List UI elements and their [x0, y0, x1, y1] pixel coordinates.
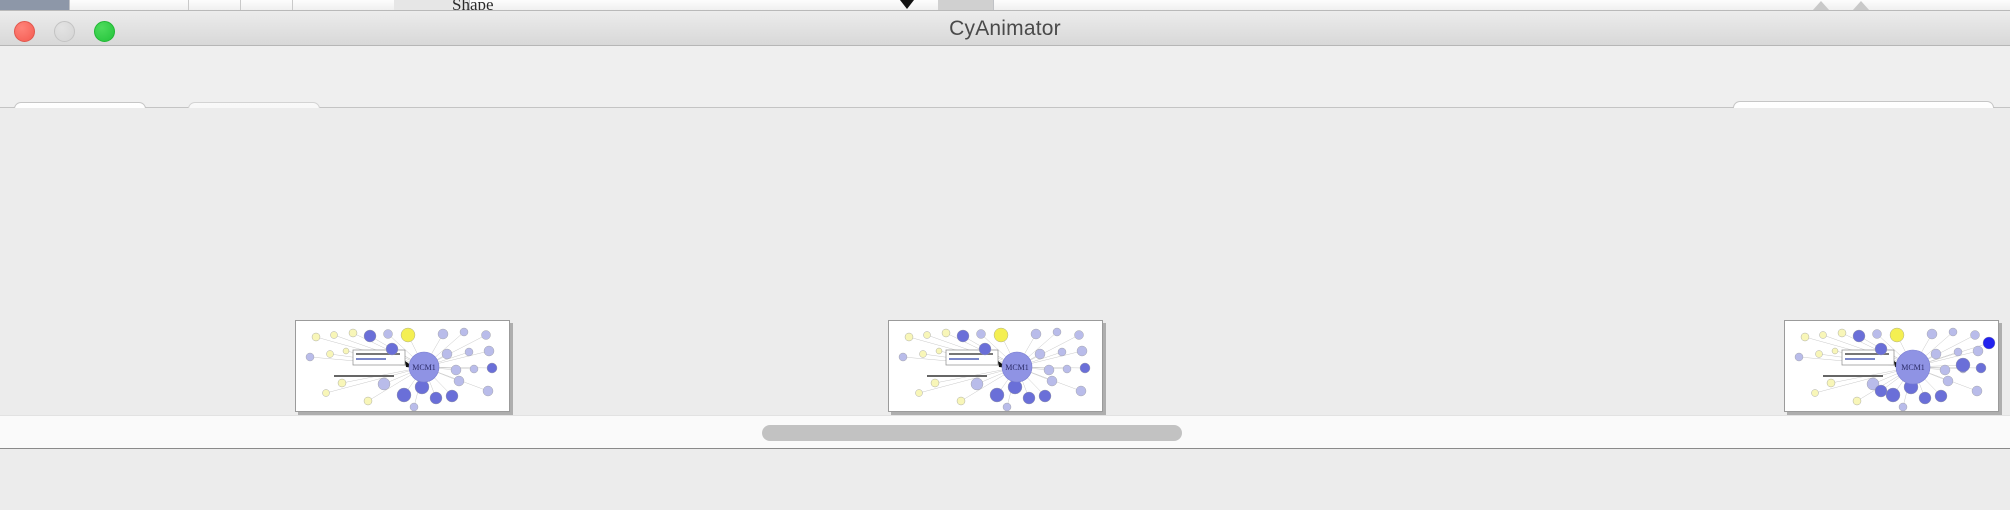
- frames-area[interactable]: MCM1MCM1MCM1: [0, 108, 2010, 312]
- timeline-scrollbar[interactable]: [0, 415, 2010, 449]
- network-thumbnail-graphic: MCM1: [296, 321, 510, 412]
- frame-network-preview: MCM1: [296, 321, 509, 411]
- network-thumbnail-graphic: MCM1: [889, 321, 1103, 412]
- timeline-frame-thumbnail[interactable]: MCM1: [1784, 320, 1999, 412]
- svg-text:MCM1: MCM1: [412, 363, 436, 372]
- scrollbar-thumb[interactable]: [762, 425, 1182, 441]
- svg-text:MCM1: MCM1: [1005, 363, 1029, 372]
- frame-network-preview: MCM1: [889, 321, 1102, 411]
- bg-chip: [938, 0, 994, 11]
- frame-network-preview: MCM1: [1785, 321, 1998, 411]
- bg-chip: [0, 0, 70, 11]
- timeline-frame-thumbnail[interactable]: MCM1: [295, 320, 510, 412]
- top-toolbar: Clear All Frames: [0, 46, 2010, 108]
- title-bar: CyAnimator: [0, 11, 2010, 46]
- timeline-panel[interactable]: MCM1MCM1MCM1 Seconds 2131415161718: [0, 108, 2010, 415]
- svg-text:MCM1: MCM1: [1901, 363, 1925, 372]
- playback-control-bar: ↻ Animation Speed:: [0, 450, 2010, 510]
- cyanimator-window: Shape CyAnimator Clear All Frames: [0, 0, 2010, 510]
- window-title: CyAnimator: [0, 17, 2010, 41]
- timeline-frame-thumbnail[interactable]: MCM1: [888, 320, 1103, 412]
- background-window-strip: Shape: [0, 0, 2010, 11]
- bg-marker-icon: [900, 0, 914, 9]
- bg-window-label: Shape: [452, 0, 494, 11]
- network-thumbnail-graphic: MCM1: [1785, 321, 1999, 412]
